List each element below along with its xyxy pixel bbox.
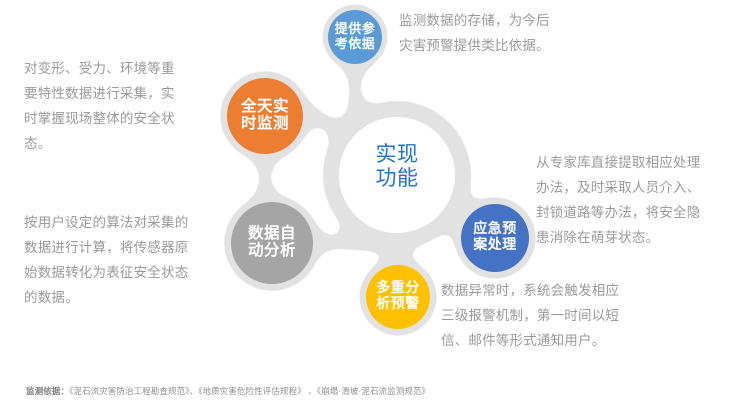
node-multi-alert-circle[interactable] — [366, 265, 430, 329]
footer-text: 《泥石流灾害防治工程勘查规范》、《地质灾害危险性评估规程》 、《崩塌·滑坡·泥石… — [69, 386, 430, 396]
description-realtime-monitoring: 对变形、受力、环境等重 要特性数据进行采集，实 时掌握现场整体的安全状 态。 — [24, 56, 224, 156]
description-multi-alert: 数据异常时，系统会触发相应 三级报警机制，第一时间以短 信、邮件等形式通知用户。 — [441, 278, 681, 353]
node-auto-analysis-circle[interactable] — [231, 202, 313, 284]
center-node-circle[interactable] — [339, 117, 455, 233]
footer-label: 监测依据： — [26, 386, 69, 396]
description-reference-basis: 监测数据的存储，为今后 灾害预警提供类比依据。 — [399, 8, 619, 58]
footer-note: 监测依据：《泥石流灾害防治工程勘查规范》、《地质灾害危险性评估规程》 、《崩塌·… — [26, 384, 430, 398]
node-reference-basis-circle[interactable] — [328, 10, 382, 64]
node-emergency-plan-circle[interactable] — [461, 204, 529, 272]
node-realtime-monitoring-circle[interactable] — [227, 78, 303, 154]
description-auto-analysis: 按用户设定的算法对采集的 数据进行计算，将传感器原 始数据转化为表征安全状态 的… — [24, 210, 234, 310]
infographic-canvas: 实现 功能 提供参 考依据 全天实 时监测 数据自 动分析 多重分 析预警 应急… — [0, 0, 744, 411]
description-emergency-plan: 从专家库直接提取相应处理 办法，及时采取人员介入、 封锁道路等办法，将安全隐 患… — [536, 150, 744, 250]
